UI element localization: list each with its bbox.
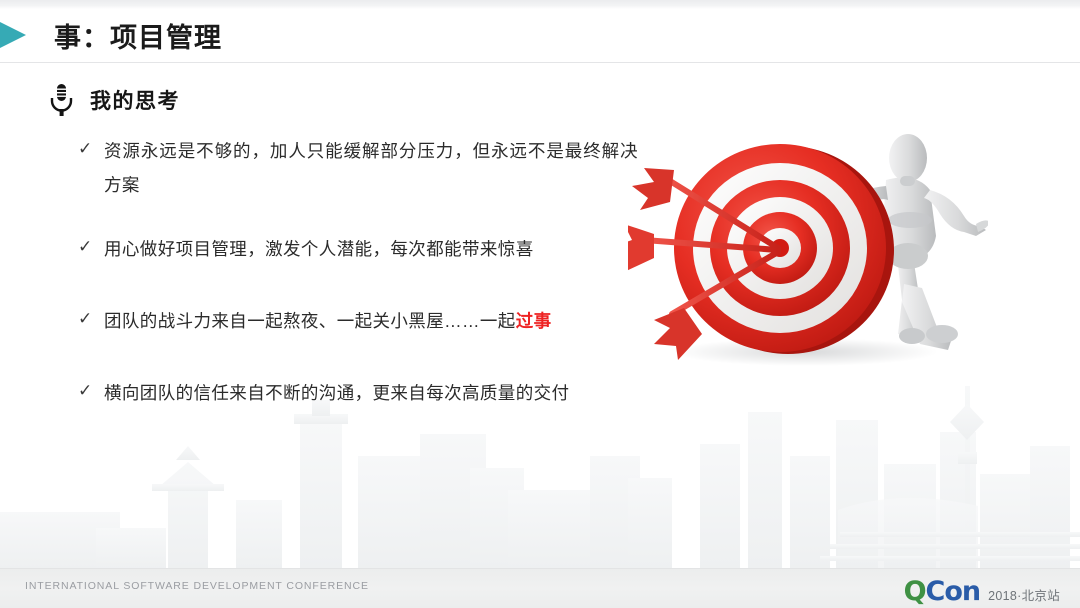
logo-q-letter: Q <box>904 576 926 607</box>
list-item-text: 横向团队的信任来自不断的沟通，更来自每次高质量的交付 <box>104 376 569 410</box>
check-icon: ✓ <box>78 376 104 407</box>
qcon-logo: Q Con 2018·北京站 <box>904 576 1060 607</box>
logo-subtitle: 2018·北京站 <box>988 585 1060 604</box>
list-item-text: 资源永远是不够的，加人只能缓解部分压力，但永远不是最终解决方案 <box>104 134 638 202</box>
microphone-icon <box>48 83 74 117</box>
top-band <box>0 0 1080 9</box>
highlight-text: 过事 <box>516 311 552 331</box>
check-icon: ✓ <box>78 134 104 165</box>
slide-canvas: 事：项目管理 我的思考 ✓ 资源永远是不够的，加人只能缓解部分压力，但永远不是最… <box>0 0 1080 608</box>
list-item-text: 团队的战斗力来自一起熬夜、一起关小黑屋……一起过事 <box>104 304 552 338</box>
page-title: 事：项目管理 <box>54 16 222 55</box>
logo-con-letters: Con <box>926 576 981 607</box>
target-disc <box>674 144 894 354</box>
section-title: 我的思考 <box>90 85 180 115</box>
mannequin-figure <box>836 134 988 350</box>
bullet-list: ✓ 资源永远是不够的，加人只能缓解部分压力，但永远不是最终解决方案 ✓ 用心做好… <box>78 134 638 410</box>
check-icon: ✓ <box>78 232 104 263</box>
dartboard-target-illustration <box>628 128 988 373</box>
check-icon: ✓ <box>78 304 104 335</box>
section-heading-row: 我的思考 <box>48 80 180 120</box>
arrows-group <box>628 168 778 360</box>
slide-footer: INTERNATIONAL SOFTWARE DEVELOPMENT CONFE… <box>0 568 1080 608</box>
title-divider <box>0 62 1080 63</box>
conference-tagline: INTERNATIONAL SOFTWARE DEVELOPMENT CONFE… <box>25 580 369 592</box>
arrow-right-icon <box>0 18 42 52</box>
list-item: ✓ 横向团队的信任来自不断的沟通，更来自每次高质量的交付 <box>78 376 638 410</box>
list-item: ✓ 用心做好项目管理，激发个人潜能，每次都能带来惊喜 <box>78 232 638 266</box>
list-item: ✓ 资源永远是不够的，加人只能缓解部分压力，但永远不是最终解决方案 <box>78 134 638 202</box>
slide-title-row: 事：项目管理 <box>0 14 222 56</box>
list-item-text: 用心做好项目管理，激发个人潜能，每次都能带来惊喜 <box>104 232 534 266</box>
list-item: ✓ 团队的战斗力来自一起熬夜、一起关小黑屋……一起过事 <box>78 304 638 338</box>
